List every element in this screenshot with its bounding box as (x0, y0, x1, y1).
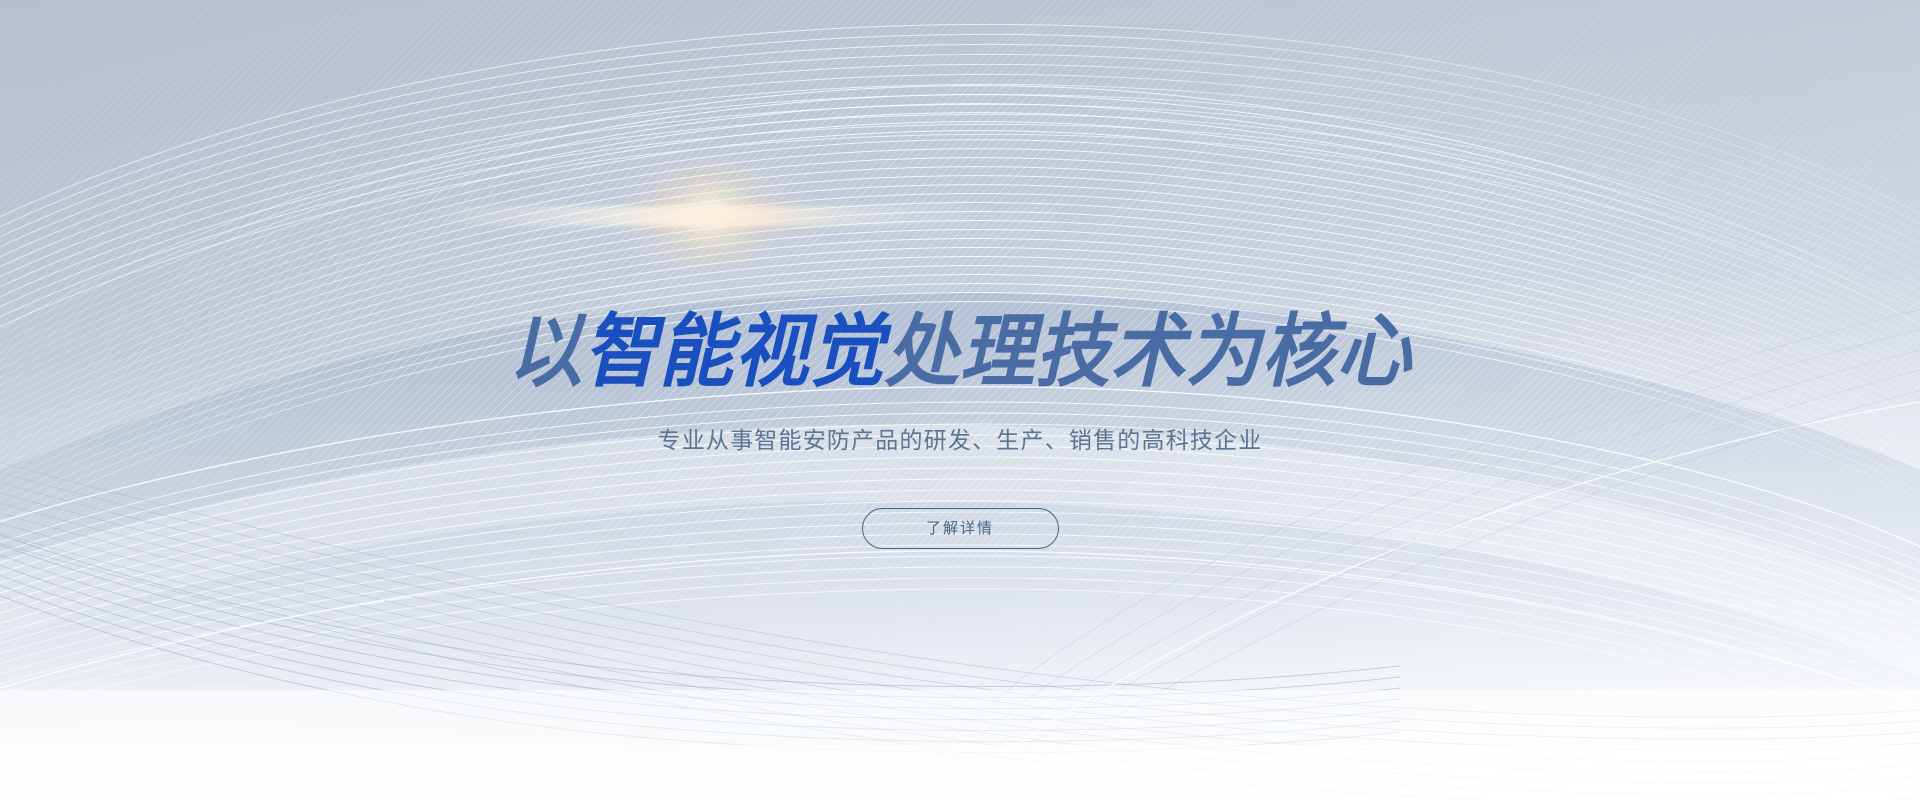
headline-segment-1: 以 (508, 307, 583, 396)
hero-headline: 以智能视觉处理技术为核心 (67, 312, 1853, 392)
lens-flare-streak (430, 206, 1000, 226)
lens-flare-glow-icon (585, 120, 835, 310)
wave-ribbon-top-arc (0, 24, 1920, 346)
learn-more-button[interactable]: 了解详情 (862, 508, 1059, 549)
hero-content: 以智能视觉处理技术为核心 专业从事智能安防产品的研发、生产、销售的高科技企业 了… (0, 0, 1920, 800)
headline-segment-3: 处理技术为核心 (885, 307, 1412, 396)
lens-flare-streak-secondary (620, 200, 810, 234)
hero-cta-container: 了解详情 (0, 508, 1920, 549)
headline-segment-accent: 智能视觉 (583, 307, 884, 396)
diagonal-stripe-texture (0, 0, 1920, 800)
wave-ribbon-crossing (0, 452, 1920, 800)
hero-banner: 以智能视觉处理技术为核心 专业从事智能安防产品的研发、生产、销售的高科技企业 了… (0, 0, 1920, 800)
wave-ribbon-left-curl (0, 520, 1400, 753)
hero-subtitle: 专业从事智能安防产品的研发、生产、销售的高科技企业 (0, 423, 1920, 458)
background-wave-artwork (0, 0, 1920, 800)
